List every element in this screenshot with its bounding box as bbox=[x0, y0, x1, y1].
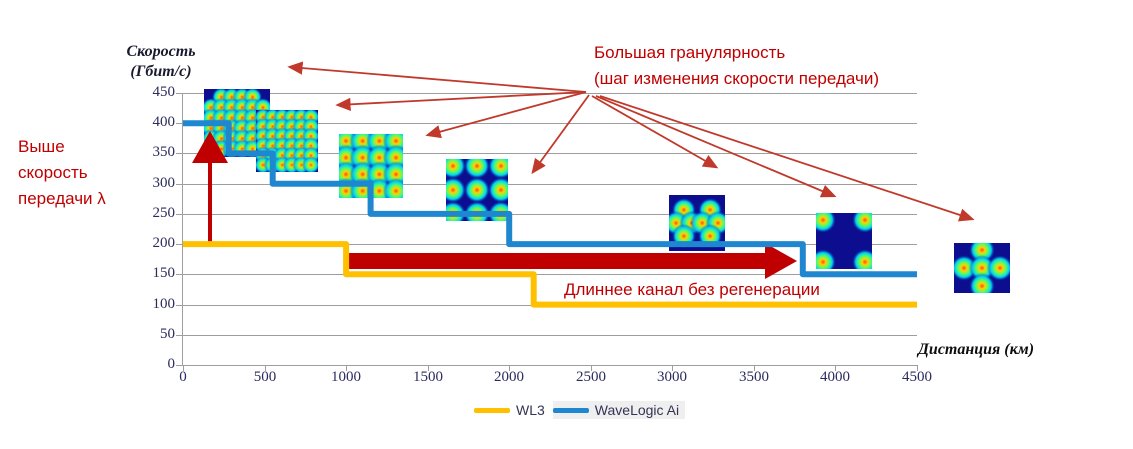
annotation-granularity-line1: Большая гранулярность bbox=[594, 40, 1014, 66]
constellation-diagram-icon bbox=[256, 110, 318, 172]
gridline-horizontal bbox=[183, 335, 917, 336]
y-tick-mark bbox=[176, 335, 183, 336]
y-tick-label: 450 bbox=[129, 84, 175, 101]
y-axis-title-line1: Скорость bbox=[106, 42, 216, 62]
annotation-speed-line3: передачи λ bbox=[18, 186, 168, 212]
y-tick-mark bbox=[176, 153, 183, 154]
y-axis-title: Скорость (Гбит/с) bbox=[106, 42, 216, 82]
y-axis-title-line2: (Гбит/с) bbox=[106, 62, 216, 82]
gridline-horizontal bbox=[183, 214, 917, 215]
annotation-granularity: Большая гранулярность (шаг изменения ско… bbox=[594, 40, 1014, 92]
x-tick-label: 0 bbox=[153, 369, 213, 386]
annotation-granularity-line2: (шаг изменения скорости передачи) bbox=[594, 66, 1014, 92]
legend-swatch bbox=[553, 408, 589, 413]
constellation-diagram-icon bbox=[339, 134, 403, 198]
gridline-horizontal bbox=[183, 184, 917, 185]
x-tick-label: 1000 bbox=[316, 369, 376, 386]
annotation-longer-reach: Длиннее канал без регенерации bbox=[564, 280, 944, 300]
speed-vs-distance-chart: Скорость (Гбит/с) Дистанция (км) 0501001… bbox=[0, 0, 1133, 449]
annotation-higher-speed: Выше скорость передачи λ bbox=[18, 134, 168, 212]
gridline-horizontal bbox=[183, 93, 917, 94]
x-tick-label: 4000 bbox=[805, 369, 865, 386]
legend-label: WL3 bbox=[516, 402, 545, 418]
x-tick-label: 3500 bbox=[724, 369, 784, 386]
x-tick-label: 3000 bbox=[642, 369, 702, 386]
y-tick-mark bbox=[176, 214, 183, 215]
x-axis-title: Дистанция (км) bbox=[918, 341, 1128, 359]
legend-swatch bbox=[474, 408, 510, 413]
x-tick-label: 2500 bbox=[561, 369, 621, 386]
annotation-speed-line2: скорость bbox=[18, 160, 168, 186]
gridline-horizontal bbox=[183, 244, 917, 245]
y-tick-mark bbox=[176, 305, 183, 306]
constellation-diagram-icon bbox=[816, 213, 872, 269]
x-tick-label: 500 bbox=[235, 369, 295, 386]
chart-legend: WL3WaveLogic Ai bbox=[474, 400, 685, 420]
constellation-diagram-icon bbox=[446, 159, 508, 221]
legend-item[interactable]: WaveLogic Ai bbox=[553, 401, 685, 419]
x-axis-line bbox=[183, 365, 917, 366]
y-tick-label: 400 bbox=[129, 114, 175, 131]
legend-item[interactable]: WL3 bbox=[474, 402, 545, 418]
x-tick-label: 4500 bbox=[887, 369, 947, 386]
y-tick-label: 50 bbox=[129, 326, 175, 343]
y-tick-label: 150 bbox=[129, 265, 175, 282]
y-tick-mark bbox=[176, 123, 183, 124]
x-tick-label: 2000 bbox=[479, 369, 539, 386]
annotation-speed-line1: Выше bbox=[18, 134, 168, 160]
y-tick-mark bbox=[176, 93, 183, 94]
y-tick-mark bbox=[176, 244, 183, 245]
y-tick-label: 200 bbox=[129, 235, 175, 252]
y-tick-mark bbox=[176, 274, 183, 275]
constellation-diagram-icon bbox=[669, 195, 725, 251]
y-tick-label: 100 bbox=[129, 296, 175, 313]
constellation-diagram-icon bbox=[954, 243, 1010, 293]
gridline-horizontal bbox=[183, 305, 917, 306]
y-axis-line bbox=[182, 93, 183, 366]
gridline-horizontal bbox=[183, 274, 917, 275]
y-tick-mark bbox=[176, 365, 183, 366]
legend-label: WaveLogic Ai bbox=[595, 402, 679, 418]
x-tick-label: 1500 bbox=[398, 369, 458, 386]
y-tick-mark bbox=[176, 184, 183, 185]
